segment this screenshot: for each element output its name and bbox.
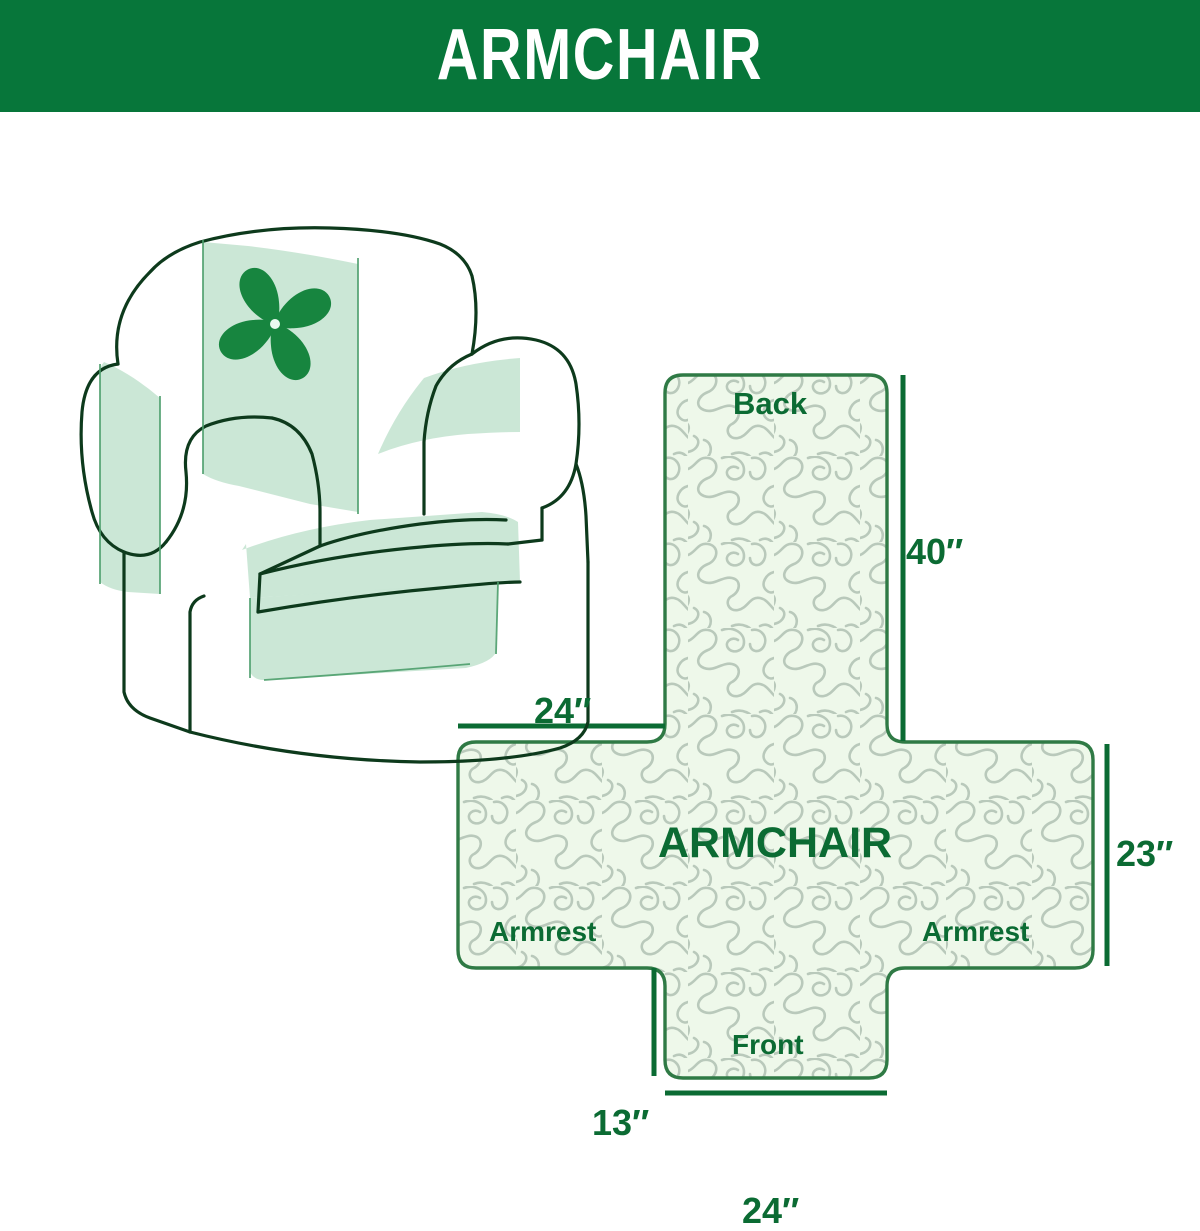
header-bar: ARMCHAIR xyxy=(0,0,1200,112)
panel-label-armrest-left: Armrest xyxy=(489,918,596,946)
dimension-label-front-height: 13″ xyxy=(592,1105,649,1141)
panel-label-back: Back xyxy=(733,388,807,419)
panel-label-front: Front xyxy=(732,1031,804,1059)
dimension-label-back-width: 24″ xyxy=(534,693,591,729)
panel-label-armrest-right: Armrest xyxy=(922,918,1029,946)
armchair-illustration xyxy=(81,228,588,762)
diagram-svg xyxy=(0,112,1200,1200)
page-title: ARMCHAIR xyxy=(437,19,763,91)
diagram-canvas: Back ARMCHAIR Armrest Armrest Front 40″ … xyxy=(0,112,1200,1200)
dimension-label-back-height: 40″ xyxy=(906,534,963,570)
dimension-label-front-width: 24″ xyxy=(742,1193,799,1229)
dimension-label-arm-width: 23″ xyxy=(1116,836,1173,872)
panel-label-center: ARMCHAIR xyxy=(658,822,892,865)
page-root: ARMCHAIR xyxy=(0,0,1200,1200)
